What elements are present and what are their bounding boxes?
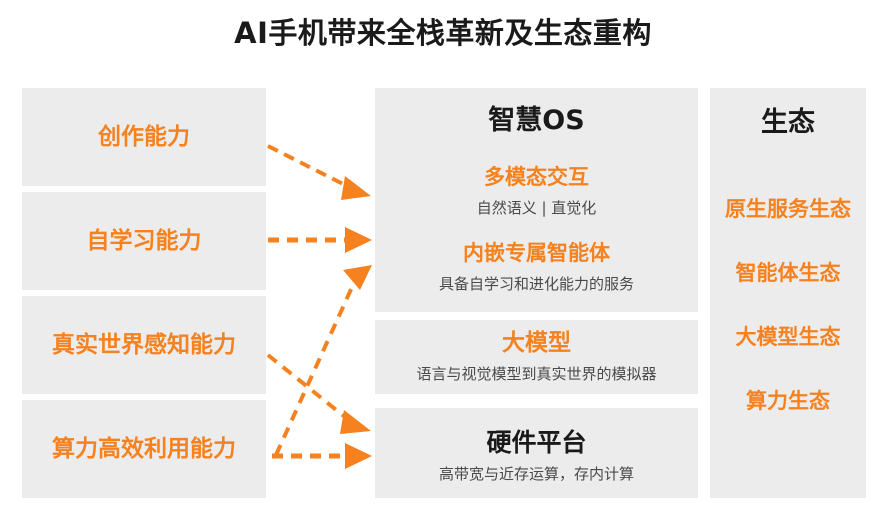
capability-box-2[interactable]: 自学习能力	[22, 192, 266, 290]
ecosystem-item-3[interactable]: 大模型生态	[710, 323, 866, 351]
ecosystem-item-4[interactable]: 算力生态	[710, 387, 866, 415]
os-heading: 智慧OS	[375, 104, 698, 138]
stack-box-os[interactable]: 智慧OS 多模态交互 自然语义 | 直觉化 内嵌专属智能体 具备自学习和进化能力…	[375, 88, 698, 312]
os-feature-detail-1: 自然语义 | 直觉化	[375, 198, 698, 218]
stack-box-model[interactable]: 大模型 语言与视觉模型到真实世界的模拟器	[375, 320, 698, 394]
ecosystem-item-1[interactable]: 原生服务生态	[710, 195, 866, 223]
connector-arrow-2	[268, 227, 372, 253]
capability-label: 真实世界感知能力	[52, 330, 236, 360]
capability-label: 创作能力	[98, 122, 190, 152]
connector-arrow-3	[276, 265, 372, 455]
diagram-canvas: AI手机带来全栈革新及生态重构 创作能力 自学习能力 真实世界感知能力 算力高效…	[0, 0, 886, 515]
ecosystem-panel[interactable]: 生态 原生服务生态 智能体生态 大模型生态 算力生态	[710, 88, 866, 498]
capability-box-3[interactable]: 真实世界感知能力	[22, 296, 266, 394]
connector-arrow-4	[268, 355, 371, 434]
capability-box-4[interactable]: 算力高效利用能力	[22, 400, 266, 498]
model-title: 大模型	[375, 330, 698, 356]
capability-label: 自学习能力	[87, 226, 202, 256]
page-title: AI手机带来全栈革新及生态重构	[0, 14, 886, 52]
capability-label: 算力高效利用能力	[52, 434, 236, 464]
ecosystem-heading: 生态	[710, 106, 866, 140]
hardware-title: 硬件平台	[375, 426, 698, 460]
connector-arrow-5	[272, 443, 372, 469]
os-feature-title-1: 多模态交互	[375, 164, 698, 190]
os-feature-title-2: 内嵌专属智能体	[375, 240, 698, 266]
hardware-detail: 高带宽与近存运算，存内计算	[375, 464, 698, 484]
os-feature-detail-2: 具备自学习和进化能力的服务	[375, 274, 698, 294]
connector-arrow-1	[268, 146, 371, 200]
stack-box-hardware[interactable]: 硬件平台 高带宽与近存运算，存内计算	[375, 408, 698, 498]
capability-box-1[interactable]: 创作能力	[22, 88, 266, 186]
ecosystem-item-2[interactable]: 智能体生态	[710, 259, 866, 287]
model-detail: 语言与视觉模型到真实世界的模拟器	[375, 364, 698, 384]
